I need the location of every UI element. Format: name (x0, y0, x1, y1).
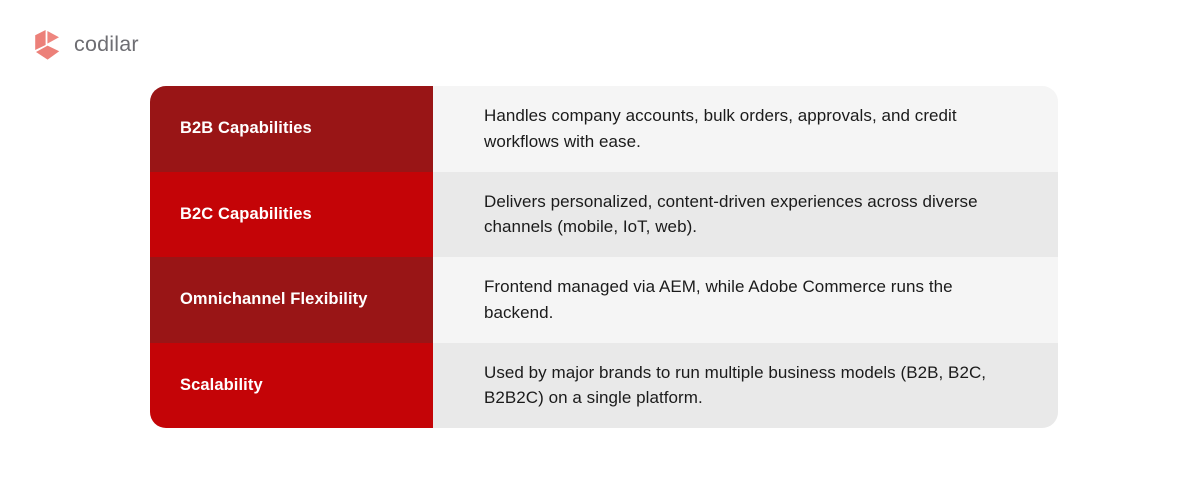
table-row: Scalability Used by major brands to run … (150, 343, 1058, 429)
row-description-cell: Handles company accounts, bulk orders, a… (433, 86, 1058, 172)
table-row: B2C Capabilities Delivers personalized, … (150, 172, 1058, 258)
row-description: Used by major brands to run multiple bus… (484, 360, 1024, 411)
row-label-cell: B2B Capabilities (150, 86, 433, 172)
row-description-cell: Used by major brands to run multiple bus… (433, 343, 1058, 429)
row-description: Handles company accounts, bulk orders, a… (484, 103, 1024, 154)
row-label: B2B Capabilities (180, 118, 312, 139)
row-label: Scalability (180, 375, 263, 396)
row-label: B2C Capabilities (180, 204, 312, 225)
row-description: Delivers personalized, content-driven ex… (484, 189, 1024, 240)
row-description: Frontend managed via AEM, while Adobe Co… (484, 274, 1024, 325)
brand-logo[interactable]: codilar (33, 28, 139, 62)
row-label-cell: Omnichannel Flexibility (150, 257, 433, 343)
table-row: Omnichannel Flexibility Frontend managed… (150, 257, 1058, 343)
row-label-cell: Scalability (150, 343, 433, 429)
row-label: Omnichannel Flexibility (180, 289, 368, 310)
brand-wordmark: codilar (74, 34, 139, 56)
row-label-cell: B2C Capabilities (150, 172, 433, 258)
table-row: B2B Capabilities Handles company account… (150, 86, 1058, 172)
row-description-cell: Frontend managed via AEM, while Adobe Co… (433, 257, 1058, 343)
row-description-cell: Delivers personalized, content-driven ex… (433, 172, 1058, 258)
capabilities-table: B2B Capabilities Handles company account… (150, 86, 1058, 428)
codilar-cube-logo-icon (33, 29, 63, 61)
